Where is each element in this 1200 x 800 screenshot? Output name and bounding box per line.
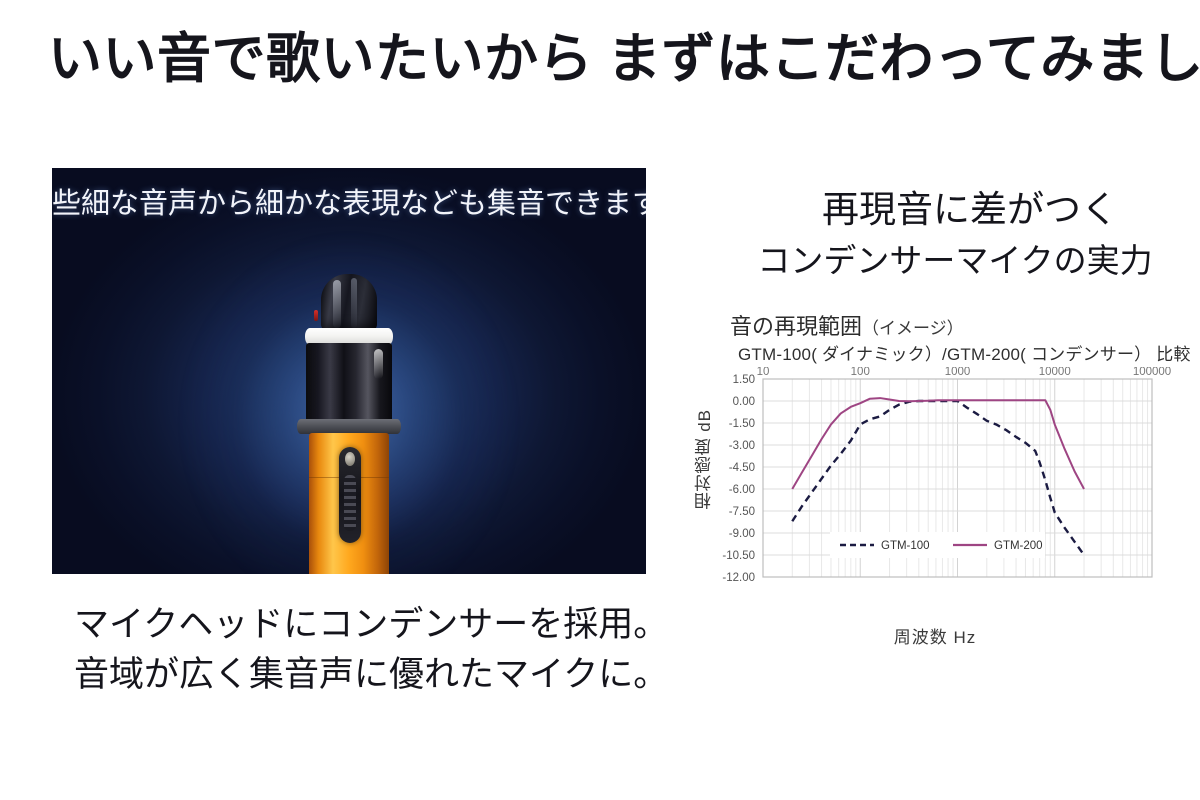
left-copy-line-1: マイクヘッドにコンデンサーを採用。 [74, 600, 714, 650]
mic-capsule-cage [321, 274, 377, 332]
chart-y-tick-label: -4.50 [729, 462, 755, 474]
chart-y-tick-label: -7.50 [729, 506, 755, 518]
chart-legend: GTM-100GTM-200 [830, 532, 1045, 558]
right-heading-secondary: コンデンサーマイクの実力 [740, 240, 1170, 284]
chart-y-tick-label: -9.00 [729, 528, 755, 540]
mic-red-pin [314, 310, 318, 321]
chart-title-suffix: （イメージ） [862, 319, 964, 338]
chart-x-tick-label: 100 [851, 367, 870, 378]
page-title: いい音で歌いたいから まずはこだわってみました [48, 26, 1168, 92]
chart-title-main: 音の再現範囲 [730, 314, 862, 339]
chart-y-tick-label: -6.00 [729, 484, 755, 496]
frequency-response-chart: 音の再現範囲（イメージ） GTM-100( ダイナミック）/GTM-200( コ… [690, 305, 1180, 660]
chart-y-tick-label: 0.00 [733, 396, 755, 408]
chart-subtitle: GTM-100( ダイナミック）/GTM-200( コンデンサー） 比較 [738, 343, 1191, 367]
chart-y-tick-label: -3.00 [729, 440, 755, 452]
chart-x-tick-label: 10 [757, 367, 770, 378]
chart-y-tick-label: 1.50 [733, 374, 755, 386]
chart-y-tick-label: -10.50 [722, 550, 755, 562]
product-photo: 些細な音声から細かな表現なども集音できます。 [52, 168, 646, 574]
microphone-illustration [289, 272, 409, 574]
mic-grey-collar [297, 419, 401, 434]
chart-x-tick-label: 1000 [945, 367, 971, 378]
left-copy-line-2: 音域が広く集音声に優れたマイクに。 [74, 650, 714, 700]
legend-label-gtm-200: GTM-200 [994, 540, 1043, 552]
chart-x-tick-label: 10000 [1039, 367, 1071, 378]
right-heading-primary: 再現音に差がつく [770, 188, 1170, 234]
chart-plot-area: 101001000100001000001.500.00-1.50-3.00-4… [690, 367, 1180, 660]
photo-caption: 些細な音声から細かな表現なども集音できます。 [52, 184, 646, 224]
left-body-copy: マイクヘッドにコンデンサーを採用。 音域が広く集音声に優れたマイクに。 [74, 600, 714, 700]
chart-x-tick-label: 100000 [1133, 367, 1171, 378]
mic-orange-handle [309, 433, 389, 574]
mic-switch-grip [344, 475, 356, 531]
chart-x-axis-label: 周波数 Hz [690, 623, 1180, 648]
legend-label-gtm-100: GTM-100 [881, 540, 930, 552]
mic-power-switch [339, 447, 361, 543]
mic-black-capsule [306, 343, 392, 421]
chart-y-tick-label: -1.50 [729, 418, 755, 430]
chart-y-tick-label: -12.00 [722, 572, 755, 584]
chart-title: 音の再現範囲（イメージ） [730, 313, 964, 343]
